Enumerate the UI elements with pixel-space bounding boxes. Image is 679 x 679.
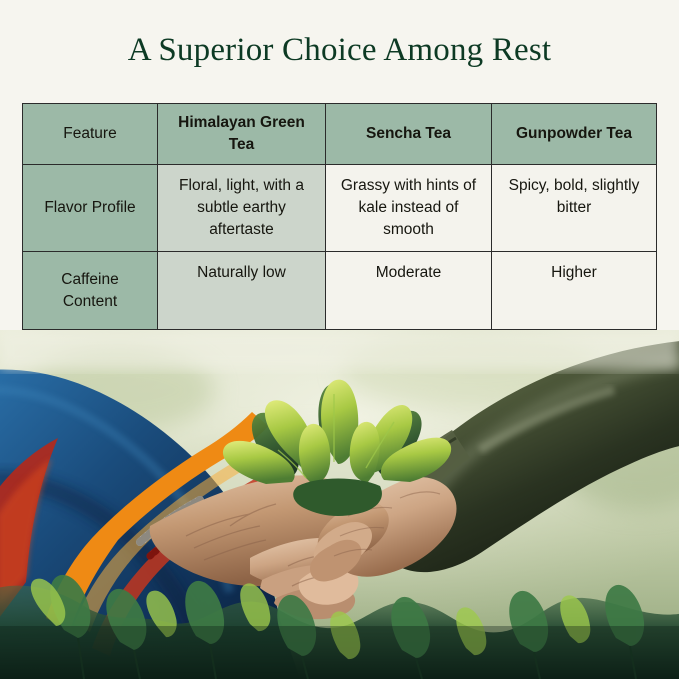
cell-sencha-flavor: Grassy with hints of kale instead of smo… bbox=[326, 165, 492, 252]
col-header-gunpowder: Gunpowder Tea bbox=[492, 104, 657, 165]
col-header-himalayan: Himalayan Green Tea bbox=[158, 104, 326, 165]
col-header-feature: Feature bbox=[23, 104, 158, 165]
cell-gunpowder-flavor: Spicy, bold, slightly bitter bbox=[492, 165, 657, 252]
title-area: A Superior Choice Among Rest bbox=[0, 0, 679, 96]
table-body: Flavor Profile Floral, light, with a sub… bbox=[23, 165, 657, 330]
cell-sencha-caffeine: Moderate bbox=[326, 252, 492, 330]
table-head: Feature Himalayan Green Tea Sencha Tea G… bbox=[23, 104, 657, 165]
cell-feature-flavor: Flavor Profile bbox=[23, 165, 158, 252]
comparison-table: Feature Himalayan Green Tea Sencha Tea G… bbox=[22, 103, 657, 330]
page-title: A Superior Choice Among Rest bbox=[128, 32, 552, 69]
cell-himalayan-caffeine: Naturally low bbox=[158, 252, 326, 330]
cell-feature-caffeine: Caffeine Content bbox=[23, 252, 158, 330]
comparison-table-wrapper: Feature Himalayan Green Tea Sencha Tea G… bbox=[22, 103, 656, 330]
table-header-row: Feature Himalayan Green Tea Sencha Tea G… bbox=[23, 104, 657, 165]
table-row: Flavor Profile Floral, light, with a sub… bbox=[23, 165, 657, 252]
photo-illustration bbox=[0, 330, 679, 679]
col-header-sencha: Sencha Tea bbox=[326, 104, 492, 165]
tea-harvest-photo bbox=[0, 330, 679, 679]
table-row: Caffeine Content Naturally low Moderate … bbox=[23, 252, 657, 330]
cell-himalayan-flavor: Floral, light, with a subtle earthy afte… bbox=[158, 165, 326, 252]
top-blend bbox=[0, 330, 679, 370]
cell-gunpowder-caffeine: Higher bbox=[492, 252, 657, 330]
poster-canvas: A Superior Choice Among Rest Feature Him… bbox=[0, 0, 679, 679]
